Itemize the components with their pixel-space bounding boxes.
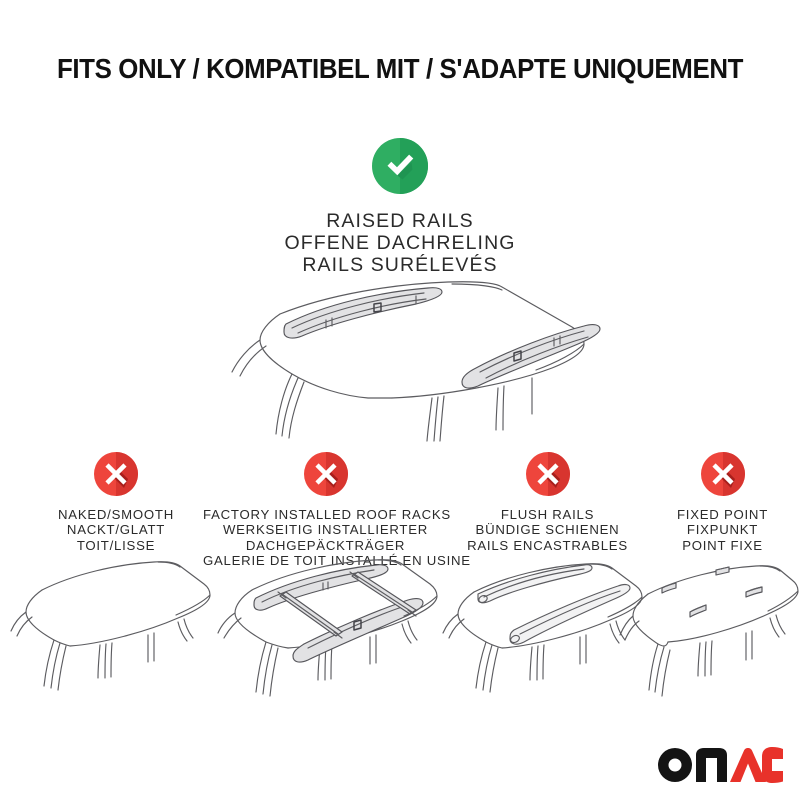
unsupported-label-en: FIXED POINT — [645, 507, 800, 522]
cross-circle-icon — [304, 452, 348, 496]
supported-label-fr: RAILS SURÉLEVÉS — [0, 254, 800, 276]
car-roof-fixed-point-illustration — [618, 556, 800, 698]
cross-circle-icon — [701, 452, 745, 496]
supported-section: RAISED RAILS OFFENE DACHRELING RAILS SUR… — [0, 138, 800, 276]
omac-logo — [656, 746, 784, 786]
unsupported-label-de-2: DACHGEPÄCKTRÄGER — [203, 538, 448, 553]
unsupported-labels: NAKED/SMOOTH NACKT/GLATT TOIT/LISSE — [16, 507, 216, 553]
car-roof-with-raised-rails-illustration — [180, 278, 620, 443]
cross-circle-icon — [94, 452, 138, 496]
cross-circle-icon — [526, 452, 570, 496]
supported-label-de: OFFENE DACHRELING — [0, 232, 800, 254]
unsupported-label-fr: TOIT/LISSE — [16, 538, 216, 553]
check-circle-icon — [372, 138, 428, 194]
car-roof-flush-rails-illustration — [440, 556, 645, 694]
unsupported-label-de: FIXPUNKT — [645, 522, 800, 537]
fitment-infographic: FITS ONLY / KOMPATIBEL MIT / S'ADAPTE UN… — [0, 0, 800, 800]
unsupported-label-en: FACTORY INSTALLED ROOF RACKS — [203, 507, 448, 522]
unsupported-item-factory-roof-racks: FACTORY INSTALLED ROOF RACKS WERKSEITIG … — [203, 452, 448, 569]
unsupported-label-en: FLUSH RAILS — [455, 507, 640, 522]
car-roof-factory-installed-roof-racks-illustration — [208, 556, 443, 698]
supported-label-en: RAISED RAILS — [0, 210, 800, 232]
unsupported-label-de: NACKT/GLATT — [16, 522, 216, 537]
car-roof-naked-smooth-illustration — [8, 556, 213, 691]
unsupported-label-fr: RAILS ENCASTRABLES — [455, 538, 640, 553]
unsupported-label-de: BÜNDIGE SCHIENEN — [455, 522, 640, 537]
unsupported-labels: FLUSH RAILS BÜNDIGE SCHIENEN RAILS ENCAS… — [455, 507, 640, 553]
unsupported-label-en: NAKED/SMOOTH — [16, 507, 216, 522]
page-title: FITS ONLY / KOMPATIBEL MIT / S'ADAPTE UN… — [24, 53, 776, 85]
unsupported-labels: FIXED POINT FIXPUNKT POINT FIXE — [645, 507, 800, 553]
unsupported-item-naked-smooth: NAKED/SMOOTH NACKT/GLATT TOIT/LISSE — [16, 452, 216, 553]
unsupported-label-fr: POINT FIXE — [645, 538, 800, 553]
unsupported-item-flush-rails: FLUSH RAILS BÜNDIGE SCHIENEN RAILS ENCAS… — [455, 452, 640, 553]
supported-labels: RAISED RAILS OFFENE DACHRELING RAILS SUR… — [0, 210, 800, 276]
unsupported-label-de-1: WERKSEITIG INSTALLIERTER — [203, 522, 448, 537]
unsupported-item-fixed-point: FIXED POINT FIXPUNKT POINT FIXE — [645, 452, 800, 553]
